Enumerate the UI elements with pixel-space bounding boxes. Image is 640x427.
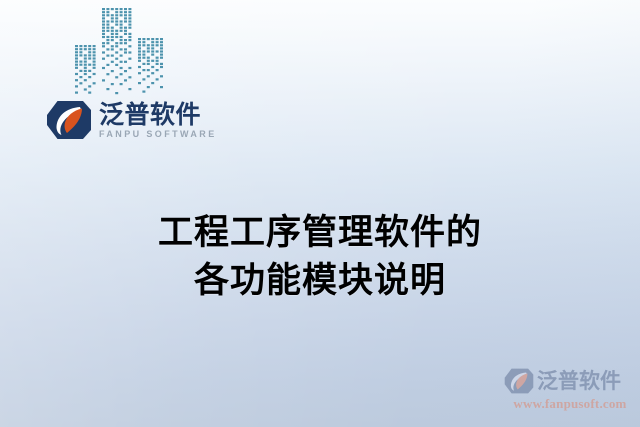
fanpu-hexagon-swoosh-logo-icon	[46, 100, 92, 140]
company-logo: 泛普软件 FANPU SOFTWARE	[46, 97, 217, 143]
slide-title-line-2: 各功能模块说明	[0, 257, 640, 305]
watermark-company-name: 泛普软件	[537, 371, 621, 392]
watermark: 泛普软件 www.fanpusoft.com	[504, 366, 636, 410]
company-logo-wordmark: 泛普软件 FANPU SOFTWARE	[99, 102, 217, 139]
watermark-logo-row: 泛普软件	[504, 366, 636, 396]
presentation-slide: 泛普软件 FANPU SOFTWARE 工程工序管理软件的 各功能模块说明 泛普…	[0, 0, 640, 427]
watermark-url: www.fanpusoft.com	[504, 397, 636, 410]
slide-title-line-1: 工程工序管理软件的	[0, 209, 640, 257]
company-name-cn: 泛普软件	[99, 102, 217, 128]
slide-title: 工程工序管理软件的 各功能模块说明	[0, 209, 640, 305]
company-name-en: FANPU SOFTWARE	[99, 130, 217, 139]
fanpu-hexagon-swoosh-logo-icon	[504, 368, 534, 394]
pixel-cityscape-icon	[74, 4, 174, 96]
